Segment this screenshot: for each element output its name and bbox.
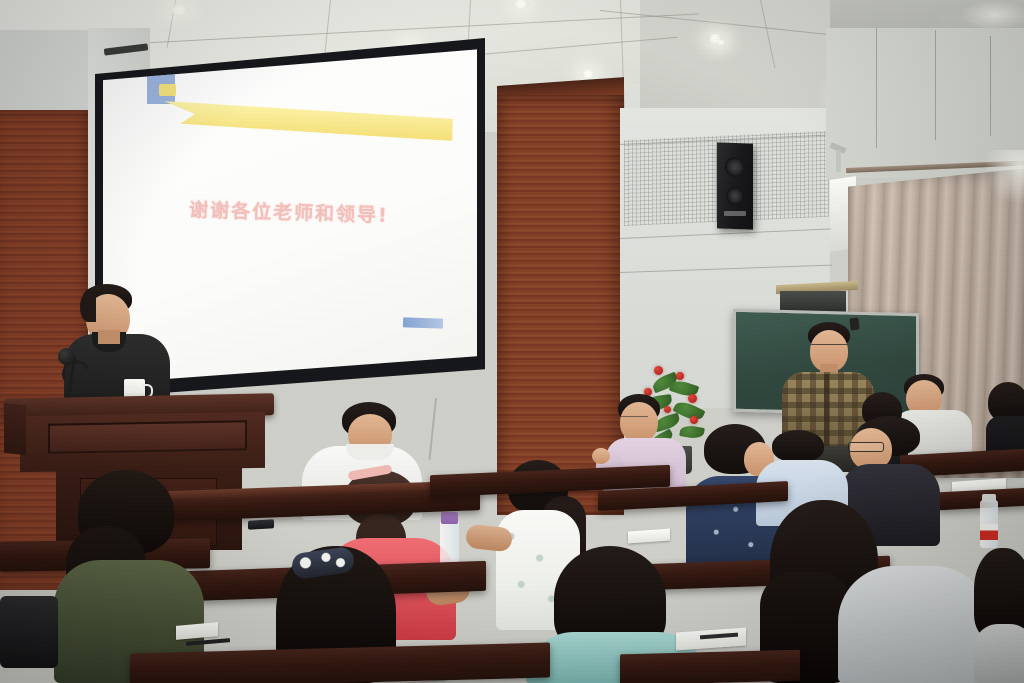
bench-desk-bottom-edge bbox=[620, 650, 800, 683]
wall-panel-seam bbox=[935, 30, 936, 140]
glasses-icon bbox=[620, 416, 648, 423]
plant-flower bbox=[676, 372, 684, 380]
ceiling-downlight bbox=[581, 70, 595, 78]
black-bag-on-bench bbox=[0, 596, 58, 668]
presenter-figure bbox=[60, 284, 170, 414]
microphone-icon bbox=[58, 348, 75, 365]
glasses-icon bbox=[848, 442, 884, 452]
slide-ribbon-banner bbox=[163, 101, 454, 141]
audience-person-right-edge bbox=[974, 548, 1024, 683]
wall-speaker-icon bbox=[717, 142, 753, 229]
slide-watermark-icon bbox=[403, 317, 443, 328]
papers-on-desk bbox=[628, 529, 670, 544]
papers-on-desk bbox=[676, 628, 746, 651]
speaker-brand-label bbox=[724, 211, 746, 216]
speaker-bracket-arm bbox=[836, 150, 841, 172]
speaker-cone bbox=[725, 157, 745, 178]
presenter-hair-side bbox=[80, 292, 96, 322]
ceiling-downlight bbox=[512, 0, 530, 8]
torso bbox=[974, 624, 1024, 683]
ceiling-light-reflection bbox=[960, 0, 1024, 30]
hair bbox=[772, 430, 824, 462]
lecture-hall-photo: 谢谢各位老师和领导! bbox=[0, 0, 1024, 683]
ceiling-downlight bbox=[716, 40, 726, 45]
glasses-icon bbox=[811, 344, 847, 352]
screen-pull-cord[interactable] bbox=[429, 398, 437, 460]
window-light-leak bbox=[985, 150, 1024, 204]
bottle-cap-purple bbox=[441, 512, 458, 524]
torso bbox=[838, 566, 990, 683]
wall-panel-seam bbox=[990, 36, 991, 136]
plant-flower bbox=[688, 394, 697, 403]
podium-side-panel bbox=[4, 403, 26, 455]
slide-logo-accent-icon bbox=[159, 84, 176, 96]
arm bbox=[465, 524, 513, 553]
smartphone-on-desk[interactable] bbox=[248, 519, 274, 529]
slide-thank-you-text: 谢谢各位老师和领导! bbox=[139, 194, 440, 229]
podium-panel-inset bbox=[48, 420, 247, 453]
presenter-neck bbox=[98, 330, 120, 344]
plant-flower bbox=[690, 416, 698, 424]
wall-panel-seam bbox=[876, 28, 877, 148]
ceiling-downlight bbox=[168, 5, 190, 14]
plant-flower bbox=[654, 366, 663, 375]
collar bbox=[346, 444, 394, 460]
speaker-cone bbox=[726, 187, 744, 206]
